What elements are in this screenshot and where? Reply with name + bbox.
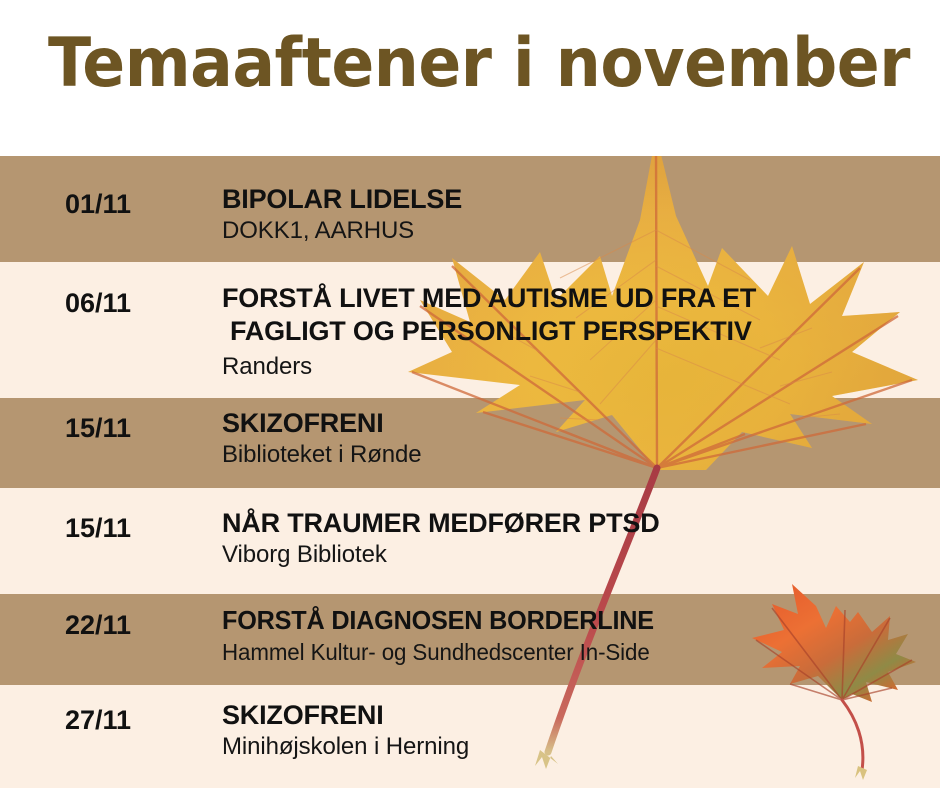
- schedule-row[interactable]: 22/11 FORSTÅ DIAGNOSEN BORDERLINE Hammel…: [0, 594, 940, 685]
- row-title-line1: BIPOLAR LIDELSE: [222, 183, 922, 216]
- row-venue: Minihøjskolen i Herning: [222, 732, 922, 762]
- row-body: SKIZOFRENI Minihøjskolen i Herning: [222, 699, 922, 762]
- row-venue: Hammel Kultur- og Sundhedscenter In-Side: [222, 637, 901, 667]
- row-body: BIPOLAR LIDELSE DOKK1, AARHUS: [222, 183, 922, 246]
- row-body: FORSTÅ DIAGNOSEN BORDERLINE Hammel Kultu…: [222, 604, 922, 667]
- row-date: 06/11: [0, 288, 196, 319]
- schedule-row[interactable]: 15/11 SKIZOFRENI Biblioteket i Rønde: [0, 398, 940, 488]
- row-venue: Viborg Bibliotek: [222, 540, 922, 570]
- row-date: 01/11: [0, 189, 196, 220]
- row-body: FORSTÅ LIVET MED AUTISME UD FRA ET FAGLI…: [222, 282, 922, 382]
- row-date: 27/11: [0, 705, 196, 736]
- row-date: 15/11: [0, 413, 196, 444]
- schedule-row[interactable]: 27/11 SKIZOFRENI Minihøjskolen i Herning: [0, 685, 940, 788]
- row-body: SKIZOFRENI Biblioteket i Rønde: [222, 407, 922, 470]
- row-venue: DOKK1, AARHUS: [222, 216, 922, 246]
- row-venue: Biblioteket i Rønde: [222, 440, 922, 470]
- row-date: 22/11: [0, 610, 196, 641]
- schedule-row[interactable]: 06/11 FORSTÅ LIVET MED AUTISME UD FRA ET…: [0, 262, 940, 398]
- row-title-line1: FORSTÅ LIVET MED AUTISME UD FRA ET: [222, 282, 922, 315]
- schedule-row[interactable]: 01/11 BIPOLAR LIDELSE DOKK1, AARHUS: [0, 156, 940, 262]
- page-title: Temaaftener i november: [48, 24, 910, 103]
- row-title-line1: NÅR TRAUMER MEDFØRER PTSD: [222, 507, 922, 540]
- schedule-row[interactable]: 15/11 NÅR TRAUMER MEDFØRER PTSD Viborg B…: [0, 488, 940, 594]
- row-title-line2: FAGLIGT OG PERSONLIGT PERSPEKTIV: [222, 315, 922, 348]
- row-date: 15/11: [0, 513, 196, 544]
- row-title-line1: SKIZOFRENI: [222, 699, 922, 732]
- title-banner: Temaaftener i november: [0, 0, 940, 156]
- row-title-line1: FORSTÅ DIAGNOSEN BORDERLINE: [222, 604, 901, 637]
- poster-canvas: Temaaftener i november 01/11 BIPOLAR LID…: [0, 0, 940, 788]
- row-body: NÅR TRAUMER MEDFØRER PTSD Viborg Bibliot…: [222, 507, 922, 570]
- row-title-line1: SKIZOFRENI: [222, 407, 922, 440]
- row-venue: Randers: [222, 352, 922, 382]
